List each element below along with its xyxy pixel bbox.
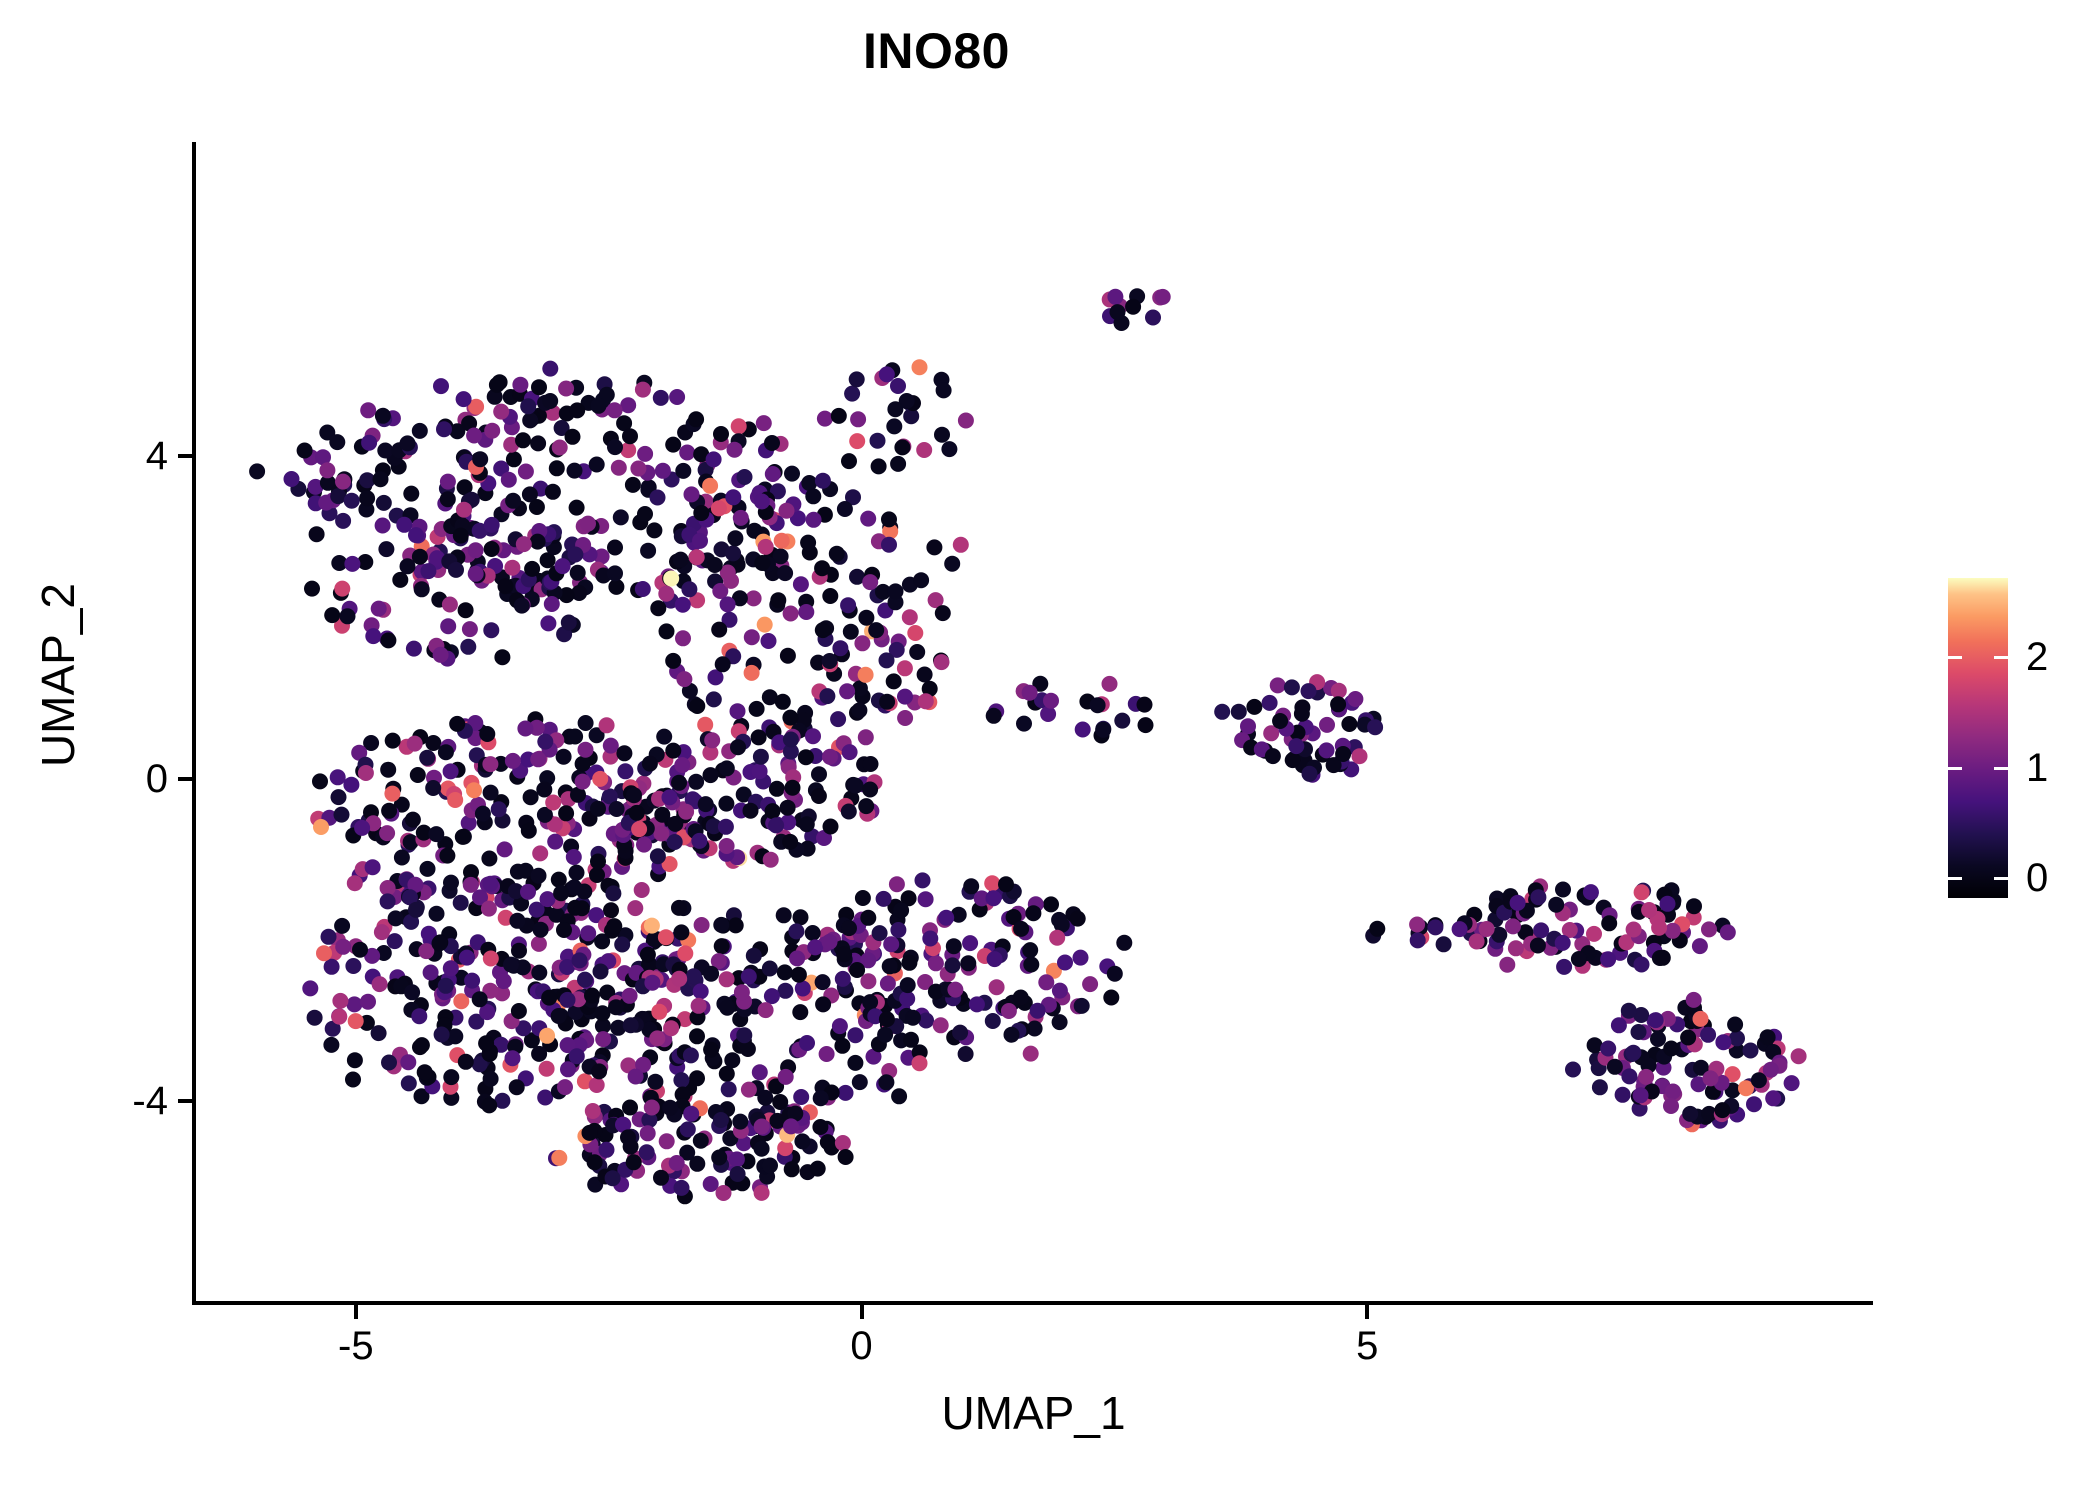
scatter-point xyxy=(656,729,672,745)
scatter-point xyxy=(1043,896,1059,912)
scatter-point xyxy=(1555,935,1571,951)
scatter-point xyxy=(447,792,463,808)
scatter-point xyxy=(805,488,821,504)
scatter-point xyxy=(406,641,422,657)
scatter-point xyxy=(331,789,347,805)
scatter-point xyxy=(844,386,860,402)
scatter-point xyxy=(1714,1102,1730,1118)
scatter-point xyxy=(1145,310,1161,326)
scatter-point xyxy=(1634,884,1650,900)
scatter-point xyxy=(460,639,476,655)
scatter-point xyxy=(1070,911,1086,927)
scatter-point xyxy=(877,1027,893,1043)
scatter-point xyxy=(770,592,786,608)
scatter-point xyxy=(379,825,395,841)
scatter-point xyxy=(1110,304,1126,320)
scatter-point xyxy=(593,964,609,980)
scatter-point xyxy=(707,557,723,573)
scatter-point xyxy=(899,991,915,1007)
scatter-point xyxy=(560,1061,576,1077)
scatter-point xyxy=(302,980,318,996)
scatter-point xyxy=(462,621,478,637)
scatter-point xyxy=(611,460,627,476)
scatter-point xyxy=(777,964,793,980)
scatter-point xyxy=(1638,1069,1654,1085)
scatter-point xyxy=(762,1158,778,1174)
scatter-point xyxy=(1090,697,1106,713)
scatter-point xyxy=(686,968,702,984)
scatter-point xyxy=(407,736,423,752)
scatter-point xyxy=(532,845,548,861)
scatter-point xyxy=(758,539,774,555)
scatter-point xyxy=(483,951,499,967)
scatter-point xyxy=(858,667,874,683)
scatter-point xyxy=(551,872,567,888)
scatter-point xyxy=(542,393,558,409)
scatter-point xyxy=(440,491,456,507)
scatter-point xyxy=(360,994,376,1010)
scatter-point xyxy=(319,462,335,478)
scatter-point xyxy=(373,471,389,487)
scatter-point xyxy=(545,795,561,811)
scatter-point xyxy=(378,541,394,557)
scatter-point xyxy=(1651,920,1667,936)
scatter-point xyxy=(330,769,346,785)
scatter-point xyxy=(518,464,534,480)
scatter-point xyxy=(249,463,265,479)
scatter-point xyxy=(1715,1034,1731,1050)
scatter-point xyxy=(840,597,856,613)
scatter-point xyxy=(558,381,574,397)
scatter-point xyxy=(432,935,448,951)
scatter-point xyxy=(1231,704,1247,720)
scatter-point xyxy=(719,760,735,776)
scatter-point xyxy=(754,1185,770,1201)
scatter-point xyxy=(316,945,332,961)
scatter-point xyxy=(309,526,325,542)
scatter-point xyxy=(928,955,944,971)
scatter-point xyxy=(511,943,527,959)
scatter-point xyxy=(478,1035,494,1051)
scatter-point xyxy=(493,404,509,420)
scatter-point xyxy=(658,586,674,602)
scatter-point xyxy=(822,653,838,669)
scatter-point xyxy=(1013,990,1029,1006)
scatter-point xyxy=(688,411,704,427)
scatter-point xyxy=(718,819,734,835)
scatter-point xyxy=(443,875,459,891)
scatter-point xyxy=(820,1134,836,1150)
scatter-point xyxy=(555,558,571,574)
y-axis-title: UMAP_2 xyxy=(35,325,81,1025)
scatter-point xyxy=(730,703,746,719)
scatter-point xyxy=(347,1052,363,1068)
scatter-point xyxy=(468,542,484,558)
scatter-point xyxy=(736,1027,752,1043)
scatter-point xyxy=(497,841,513,857)
scatter-point xyxy=(938,910,954,926)
legend-colorbar xyxy=(1948,578,2008,898)
scatter-point xyxy=(752,1064,768,1080)
scatter-point xyxy=(815,622,831,638)
scatter-point xyxy=(650,600,666,616)
scatter-point xyxy=(1615,1087,1631,1103)
scatter-point xyxy=(689,549,705,565)
scatter-point xyxy=(1331,683,1347,699)
scatter-point xyxy=(531,379,547,395)
scatter-point xyxy=(936,382,952,398)
scatter-point xyxy=(721,1081,737,1097)
scatter-point xyxy=(607,439,623,455)
scatter-point xyxy=(1409,917,1425,933)
scatter-point xyxy=(553,885,569,901)
scatter-point xyxy=(448,562,464,578)
scatter-point xyxy=(529,499,545,515)
x-tick-mark xyxy=(860,1305,864,1319)
scatter-point xyxy=(1114,713,1130,729)
scatter-point xyxy=(505,1050,521,1066)
scatter-point xyxy=(780,648,796,664)
scatter-point xyxy=(410,767,426,783)
scatter-point xyxy=(1137,697,1153,713)
scatter-point xyxy=(297,443,313,459)
scatter-point xyxy=(893,902,909,918)
scatter-point xyxy=(855,890,871,906)
scatter-point xyxy=(728,917,744,933)
scatter-point xyxy=(1038,974,1054,990)
scatter-point xyxy=(556,749,572,765)
scatter-point xyxy=(838,1085,854,1101)
scatter-point xyxy=(400,435,416,451)
scatter-point xyxy=(958,413,974,429)
scatter-point xyxy=(1469,934,1485,950)
scatter-point xyxy=(758,1002,774,1018)
scatter-point xyxy=(798,749,814,765)
scatter-point xyxy=(706,451,722,467)
scatter-point xyxy=(841,453,857,469)
scatter-point xyxy=(662,1100,678,1116)
scatter-point xyxy=(1302,766,1318,782)
scatter-point xyxy=(1073,950,1089,966)
scatter-point xyxy=(591,1063,607,1079)
scatter-point xyxy=(345,1072,361,1088)
scatter-point xyxy=(627,900,643,916)
scatter-point xyxy=(783,732,799,748)
scatter-point xyxy=(679,445,695,461)
scatter-point xyxy=(711,1150,727,1166)
x-axis-line xyxy=(192,1301,1873,1305)
scatter-point xyxy=(335,474,351,490)
scatter-point xyxy=(907,625,923,641)
scatter-point xyxy=(849,371,865,387)
scatter-point xyxy=(420,563,436,579)
scatter-point xyxy=(1214,704,1230,720)
scatter-point xyxy=(775,694,791,710)
scatter-point xyxy=(725,545,741,561)
scatter-point xyxy=(466,428,482,444)
scatter-point xyxy=(580,516,596,532)
scatter-point xyxy=(835,1135,851,1151)
scatter-point xyxy=(644,975,660,991)
x-tick-label: -5 xyxy=(256,1326,456,1366)
scatter-point xyxy=(849,962,865,978)
scatter-point xyxy=(463,877,479,893)
scatter-point xyxy=(667,816,683,832)
scatter-point xyxy=(718,796,734,812)
scatter-point xyxy=(565,429,581,445)
scatter-point xyxy=(414,581,430,597)
scatter-point xyxy=(1743,1043,1759,1059)
scatter-point xyxy=(1601,915,1617,931)
scatter-point xyxy=(1030,1003,1046,1019)
scatter-point xyxy=(484,517,500,533)
scatter-point xyxy=(832,640,848,656)
scatter-point xyxy=(819,688,835,704)
scatter-point xyxy=(677,945,693,961)
scatter-point xyxy=(1508,940,1524,956)
scatter-point xyxy=(419,750,435,766)
scatter-point xyxy=(858,729,874,745)
scatter-point xyxy=(1634,957,1650,973)
scatter-point xyxy=(458,1054,474,1070)
scatter-point xyxy=(1633,1087,1649,1103)
scatter-point xyxy=(1107,289,1123,305)
scatter-point xyxy=(879,652,895,668)
scatter-point xyxy=(622,1100,638,1116)
y-tick-mark xyxy=(178,777,192,781)
scatter-point xyxy=(912,1055,928,1071)
scatter-point xyxy=(334,581,350,597)
scatter-point xyxy=(605,885,621,901)
scatter-point xyxy=(897,660,913,676)
scatter-point xyxy=(517,721,533,737)
scatter-point xyxy=(608,579,624,595)
scatter-point xyxy=(412,549,428,565)
scatter-point xyxy=(671,900,687,916)
scatter-point xyxy=(380,762,396,778)
scatter-point xyxy=(815,473,831,489)
scatter-point xyxy=(585,1103,601,1119)
scatter-point xyxy=(577,972,593,988)
scatter-point xyxy=(590,801,606,817)
scatter-point xyxy=(753,749,769,765)
scatter-point xyxy=(646,522,662,538)
scatter-point xyxy=(879,694,895,710)
scatter-point xyxy=(890,378,906,394)
scatter-point xyxy=(831,408,847,424)
scatter-point xyxy=(693,505,709,521)
scatter-point xyxy=(1284,679,1300,695)
scatter-point xyxy=(607,565,623,581)
scatter-point xyxy=(1641,902,1657,918)
scatter-point xyxy=(676,671,692,687)
scatter-point xyxy=(1533,922,1549,938)
scatter-point xyxy=(644,1100,660,1116)
scatter-point xyxy=(763,852,779,868)
scatter-point xyxy=(606,918,622,934)
scatter-point xyxy=(713,1112,729,1128)
scatter-point xyxy=(530,534,546,550)
scatter-point xyxy=(727,442,743,458)
scatter-point xyxy=(332,993,348,1009)
scatter-point xyxy=(813,1090,829,1106)
scatter-point xyxy=(375,518,391,534)
scatter-point xyxy=(1682,1106,1698,1122)
scatter-point xyxy=(746,590,762,606)
scatter-point xyxy=(1655,950,1671,966)
scatter-point xyxy=(503,957,519,973)
scatter-point xyxy=(1626,922,1642,938)
scatter-point xyxy=(482,756,498,772)
scatter-point xyxy=(1499,957,1515,973)
scatter-point xyxy=(881,537,897,553)
scatter-point xyxy=(1341,716,1357,732)
scatter-point xyxy=(817,411,833,427)
scatter-point xyxy=(1043,693,1059,709)
scatter-point xyxy=(933,1017,949,1033)
scatter-point xyxy=(862,782,878,798)
scatter-point xyxy=(1262,695,1278,711)
scatter-point xyxy=(533,922,549,938)
scatter-point xyxy=(783,1118,799,1134)
scatter-point xyxy=(403,486,419,502)
scatter-point xyxy=(764,988,780,1004)
scatter-point xyxy=(1004,1027,1020,1043)
scatter-point xyxy=(388,910,404,926)
scatter-point xyxy=(1510,895,1526,911)
scatter-point xyxy=(754,494,770,510)
scatter-point xyxy=(1452,921,1468,937)
scatter-point xyxy=(795,981,811,997)
scatter-point xyxy=(425,780,441,796)
scatter-point xyxy=(688,774,704,790)
scatter-point xyxy=(984,875,1000,891)
scatter-point xyxy=(578,715,594,731)
scatter-point xyxy=(1505,918,1521,934)
scatter-point xyxy=(1665,923,1681,939)
scatter-point xyxy=(778,1069,794,1085)
scatter-point xyxy=(405,812,421,828)
scatter-point xyxy=(455,829,471,845)
scatter-point xyxy=(902,609,918,625)
scatter-point xyxy=(1692,938,1708,954)
scatter-point xyxy=(1410,932,1426,948)
scatter-point xyxy=(1125,299,1141,315)
scatter-point xyxy=(329,434,345,450)
scatter-point xyxy=(762,961,778,977)
scatter-point xyxy=(662,789,678,805)
scatter-point xyxy=(665,437,681,453)
scatter-point xyxy=(456,502,472,518)
scatter-point xyxy=(584,988,600,1004)
scatter-point xyxy=(542,361,558,377)
scatter-point xyxy=(792,1004,808,1020)
scatter-point xyxy=(757,617,773,633)
scatter-point xyxy=(903,1032,919,1048)
scatter-point xyxy=(307,1010,323,1026)
scatter-point xyxy=(449,716,465,732)
scatter-point xyxy=(832,1018,848,1034)
scatter-point xyxy=(784,466,800,482)
scatter-point xyxy=(863,756,879,772)
scatter-point xyxy=(540,615,556,631)
scatter-point xyxy=(918,891,934,907)
scatter-point xyxy=(732,1114,748,1130)
scatter-point xyxy=(811,766,827,782)
scatter-point xyxy=(547,834,563,850)
scatter-point xyxy=(814,560,830,576)
scatter-point xyxy=(572,952,588,968)
scatter-point xyxy=(706,691,722,707)
scatter-point xyxy=(960,955,976,971)
scatter-point xyxy=(347,875,363,891)
scatter-point xyxy=(793,909,809,925)
scatter-point xyxy=(1611,1017,1627,1033)
scatter-point xyxy=(1600,951,1616,967)
scatter-point xyxy=(918,1013,934,1029)
scatter-point xyxy=(837,501,853,517)
scatter-point xyxy=(772,1094,788,1110)
scatter-point xyxy=(958,1046,974,1062)
scatter-point xyxy=(376,495,392,511)
scatter-point xyxy=(1720,924,1736,940)
scatter-point xyxy=(623,1139,639,1155)
x-tick-label: 5 xyxy=(1267,1326,1467,1366)
scatter-point xyxy=(934,654,950,670)
scatter-point xyxy=(782,834,798,850)
scatter-point xyxy=(483,785,499,801)
scatter-point xyxy=(715,656,731,672)
scatter-point xyxy=(986,890,1002,906)
scatter-point xyxy=(396,517,412,533)
scatter-point xyxy=(484,423,500,439)
scatter-point xyxy=(414,1037,430,1053)
umap-feature-plot: INO80 -404 -505 UMAP_2 UMAP_1 012 xyxy=(0,0,2100,1500)
scatter-point xyxy=(1663,1098,1679,1114)
scatter-point xyxy=(628,1069,644,1085)
scatter-point xyxy=(587,1154,603,1170)
scatter-point xyxy=(620,442,636,458)
scatter-point xyxy=(887,401,903,417)
scatter-point xyxy=(423,965,439,981)
scatter-point xyxy=(411,1008,427,1024)
scatter-point xyxy=(673,1072,689,1088)
scatter-point xyxy=(536,782,552,798)
scatter-point xyxy=(630,461,646,477)
scatter-point xyxy=(640,543,656,559)
scatter-point xyxy=(537,1090,553,1106)
scatter-point xyxy=(655,463,671,479)
scatter-point xyxy=(324,607,340,623)
scatter-point xyxy=(1607,1059,1623,1075)
color-legend: 012 xyxy=(1948,578,2088,898)
scatter-point xyxy=(822,934,838,950)
scatter-point xyxy=(694,917,710,933)
scatter-point xyxy=(703,1042,719,1058)
legend-tick-label: 2 xyxy=(2026,637,2048,677)
scatter-point xyxy=(683,1106,699,1122)
scatter-point xyxy=(891,1088,907,1104)
scatter-point xyxy=(697,717,713,733)
scatter-point xyxy=(567,463,583,479)
scatter-point xyxy=(340,608,356,624)
scatter-point xyxy=(1095,722,1111,738)
scatter-point xyxy=(665,653,681,669)
scatter-point xyxy=(744,665,760,681)
scatter-point xyxy=(623,1017,639,1033)
scatter-point xyxy=(913,572,929,588)
scatter-point xyxy=(800,535,816,551)
